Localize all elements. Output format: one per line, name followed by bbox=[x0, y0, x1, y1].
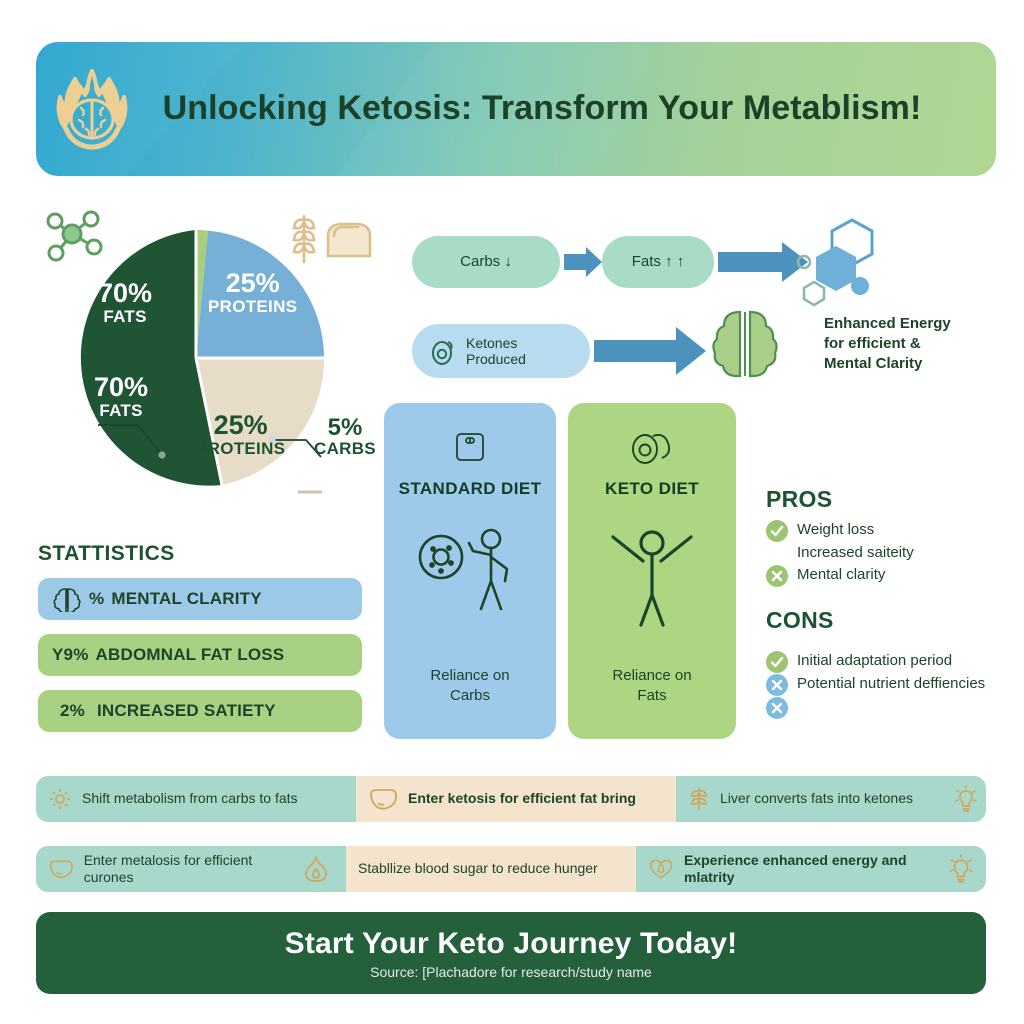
pie-label-carbs: 5% CARBS bbox=[314, 416, 376, 458]
stat-bar-fat-loss[interactable]: Y9% ABDOMNAL FAT LOSS bbox=[38, 634, 362, 676]
process-segment-1-4[interactable] bbox=[946, 776, 986, 822]
arrow-carbs-to-fats bbox=[564, 247, 602, 277]
process-segment-2-5[interactable] bbox=[936, 846, 986, 892]
macro-pie-chart: 70% FATS 70% FATS 25% PROTEINS 25% PROTE… bbox=[36, 208, 386, 508]
statistics-heading: STATTISTICS bbox=[38, 542, 362, 566]
flow-outcome-line-2: for efficient & bbox=[824, 334, 1004, 354]
avocado-icon bbox=[428, 337, 456, 365]
diet-card-title-standard: STANDARD DIET bbox=[399, 479, 542, 499]
pros-item-label-1: Increased saiteity bbox=[797, 542, 914, 564]
keto-sub-line-2: Fats bbox=[612, 686, 691, 706]
process-segment-2-2[interactable] bbox=[286, 846, 346, 892]
statistics-section: STATTISTICS % MENTAL CLARITY Y9% ABDOMNA… bbox=[38, 542, 362, 746]
arrow-ketones-to-brain bbox=[594, 327, 706, 375]
liver-icon bbox=[48, 857, 74, 881]
pie-label-proteins-1: 25% PROTEINS bbox=[208, 270, 297, 315]
pros-item-0: Weight loss bbox=[766, 519, 1022, 542]
pros-item-2: Mental clarity bbox=[766, 564, 1022, 587]
brain-icon bbox=[713, 312, 776, 376]
cons-heading: CONS bbox=[766, 607, 1022, 634]
heart-drop-icon bbox=[648, 856, 674, 882]
cross-circle-icon bbox=[766, 674, 788, 696]
scale-icon bbox=[452, 423, 488, 471]
stat-label-0: MENTAL CLARITY bbox=[111, 589, 261, 609]
process-segment-2-3[interactable]: Stabllize blood sugar to reduce hunger bbox=[346, 846, 636, 892]
flow-step-ketones-label: Ketones Produced bbox=[466, 335, 526, 367]
cons-item-label-1: Potential nutrient deffiencies bbox=[797, 673, 985, 695]
brain-icon bbox=[52, 586, 82, 612]
flow-step-carbs: Carbs ↓ bbox=[412, 236, 560, 288]
diet-card-keto[interactable]: KETO DIET Reliance on Fats bbox=[568, 403, 736, 739]
process-segment-1-3[interactable]: Liver converts fats into ketones bbox=[676, 776, 946, 822]
arrow-fats-to-molecule bbox=[718, 242, 808, 282]
avocado-icon bbox=[629, 423, 675, 471]
wheat-bread-icon bbox=[294, 216, 370, 262]
wheat-icon bbox=[688, 786, 710, 812]
pie-label-proteins-2: 25% PROTEINS bbox=[196, 412, 285, 457]
cons-item-1: Potential nutrient deffiencies bbox=[766, 673, 1022, 696]
pros-item-label-0: Weight loss bbox=[797, 519, 874, 541]
pie-label-fats-2: 70% FATS bbox=[94, 374, 148, 419]
diet-card-title-keto: KETO DIET bbox=[605, 479, 699, 499]
cons-item-0: Initial adaptation period bbox=[766, 650, 1022, 673]
header-banner: Unlocking Ketosis: Transform Your Metabl… bbox=[36, 42, 996, 176]
stat-value-2: 2% bbox=[60, 701, 85, 721]
process-strip-row-2: Enter metalosis for efficient curones St… bbox=[36, 846, 986, 892]
flow-step-ketones: Ketones Produced bbox=[412, 324, 590, 378]
stat-value-1: Y9% bbox=[52, 645, 89, 665]
gear-icon bbox=[48, 787, 72, 811]
pros-heading: PROS bbox=[766, 486, 1022, 513]
pie-callout-dot-fats bbox=[158, 451, 165, 458]
footer-cta-text: Start Your Keto Journey Today! bbox=[285, 927, 738, 961]
ketosis-flow-diagram: Carbs ↓ Fats ↑ ↑ Ketones Produced Enhanc… bbox=[404, 214, 1004, 392]
hexagon-molecule-icon bbox=[798, 220, 872, 305]
stat-value-0: % bbox=[89, 589, 104, 609]
molecule-icon bbox=[48, 212, 101, 260]
diet-card-standard[interactable]: STANDARD DIET Reliance on Carbs bbox=[384, 403, 556, 739]
stat-label-2: INCREASED SATIETY bbox=[97, 701, 276, 721]
process-segment-1-1[interactable]: Shift metabolism from carbs to fats bbox=[36, 776, 356, 822]
diet-card-subtitle-standard: Reliance on Carbs bbox=[430, 666, 509, 705]
cons-item-label-0: Initial adaptation period bbox=[797, 650, 952, 672]
flow-outcome-text: Enhanced Energy for efficient & Mental C… bbox=[824, 314, 1004, 374]
header-logo bbox=[36, 67, 148, 151]
process-segment-2-4[interactable]: Experience enhanced energy and mlatrity bbox=[636, 846, 936, 892]
flow-outcome-line-1: Enhanced Energy bbox=[824, 314, 1004, 334]
std-sub-line-1: Reliance on bbox=[430, 666, 509, 686]
keto-sub-line-1: Reliance on bbox=[612, 666, 691, 686]
pros-item-label-2: Mental clarity bbox=[797, 564, 885, 586]
process-label-2-1: Enter metalosis for efficient curones bbox=[84, 852, 274, 887]
process-segment-1-2[interactable]: Enter ketosis for efficient fat bring bbox=[356, 776, 676, 822]
stat-bar-mental-clarity[interactable]: % MENTAL CLARITY bbox=[38, 578, 362, 620]
cross-circle-icon bbox=[766, 565, 788, 587]
flame-icon bbox=[304, 855, 328, 883]
bulb-icon bbox=[948, 854, 974, 884]
process-segment-2-1[interactable]: Enter metalosis for efficient curones bbox=[36, 846, 286, 892]
std-sub-line-2: Carbs bbox=[430, 686, 509, 706]
process-label-1-2: Enter ketosis for efficient fat bring bbox=[408, 790, 636, 808]
process-label-1-3: Liver converts fats into ketones bbox=[720, 790, 913, 808]
process-strip-row-1: Shift metabolism from carbs to fats Ente… bbox=[36, 776, 986, 822]
cross-circle-icon bbox=[766, 697, 788, 719]
pros-cons-section: PROS Weight loss Increased saiteity Ment… bbox=[766, 486, 1022, 719]
happy-person-icon bbox=[599, 523, 705, 634]
cons-item-2 bbox=[766, 696, 1022, 719]
diet-card-subtitle-keto: Reliance on Fats bbox=[612, 666, 691, 705]
check-circle-icon bbox=[766, 651, 788, 673]
flow-step-fats: Fats ↑ ↑ bbox=[602, 236, 714, 288]
pie-label-fats-1: 70% FATS bbox=[98, 280, 152, 325]
footer-source-text: Source: [Plachadore for research/study n… bbox=[370, 964, 652, 980]
flow-outcome-line-3: Mental Clarity bbox=[824, 354, 1004, 374]
pros-item-1: Increased saiteity bbox=[766, 542, 1022, 564]
bulb-icon bbox=[954, 785, 978, 813]
process-label-1-1: Shift metabolism from carbs to fats bbox=[82, 790, 298, 808]
stat-bar-satiety[interactable]: 2% INCREASED SATIETY bbox=[38, 690, 362, 732]
check-circle-icon bbox=[766, 520, 788, 542]
infographic-page: Unlocking Ketosis: Transform Your Metabl… bbox=[0, 0, 1024, 1024]
liver-icon bbox=[368, 787, 398, 811]
stat-label-1: ABDOMNAL FAT LOSS bbox=[96, 645, 285, 665]
pie-svg bbox=[36, 208, 386, 508]
donut-person-icon bbox=[411, 523, 529, 620]
process-label-2-4: Experience enhanced energy and mlatrity bbox=[684, 852, 924, 887]
flame-brain-icon bbox=[55, 67, 129, 151]
footer-cta-banner[interactable]: Start Your Keto Journey Today! Source: [… bbox=[36, 912, 986, 994]
page-title: Unlocking Ketosis: Transform Your Metabl… bbox=[148, 88, 996, 129]
process-label-2-3: Stabllize blood sugar to reduce hunger bbox=[358, 860, 598, 878]
